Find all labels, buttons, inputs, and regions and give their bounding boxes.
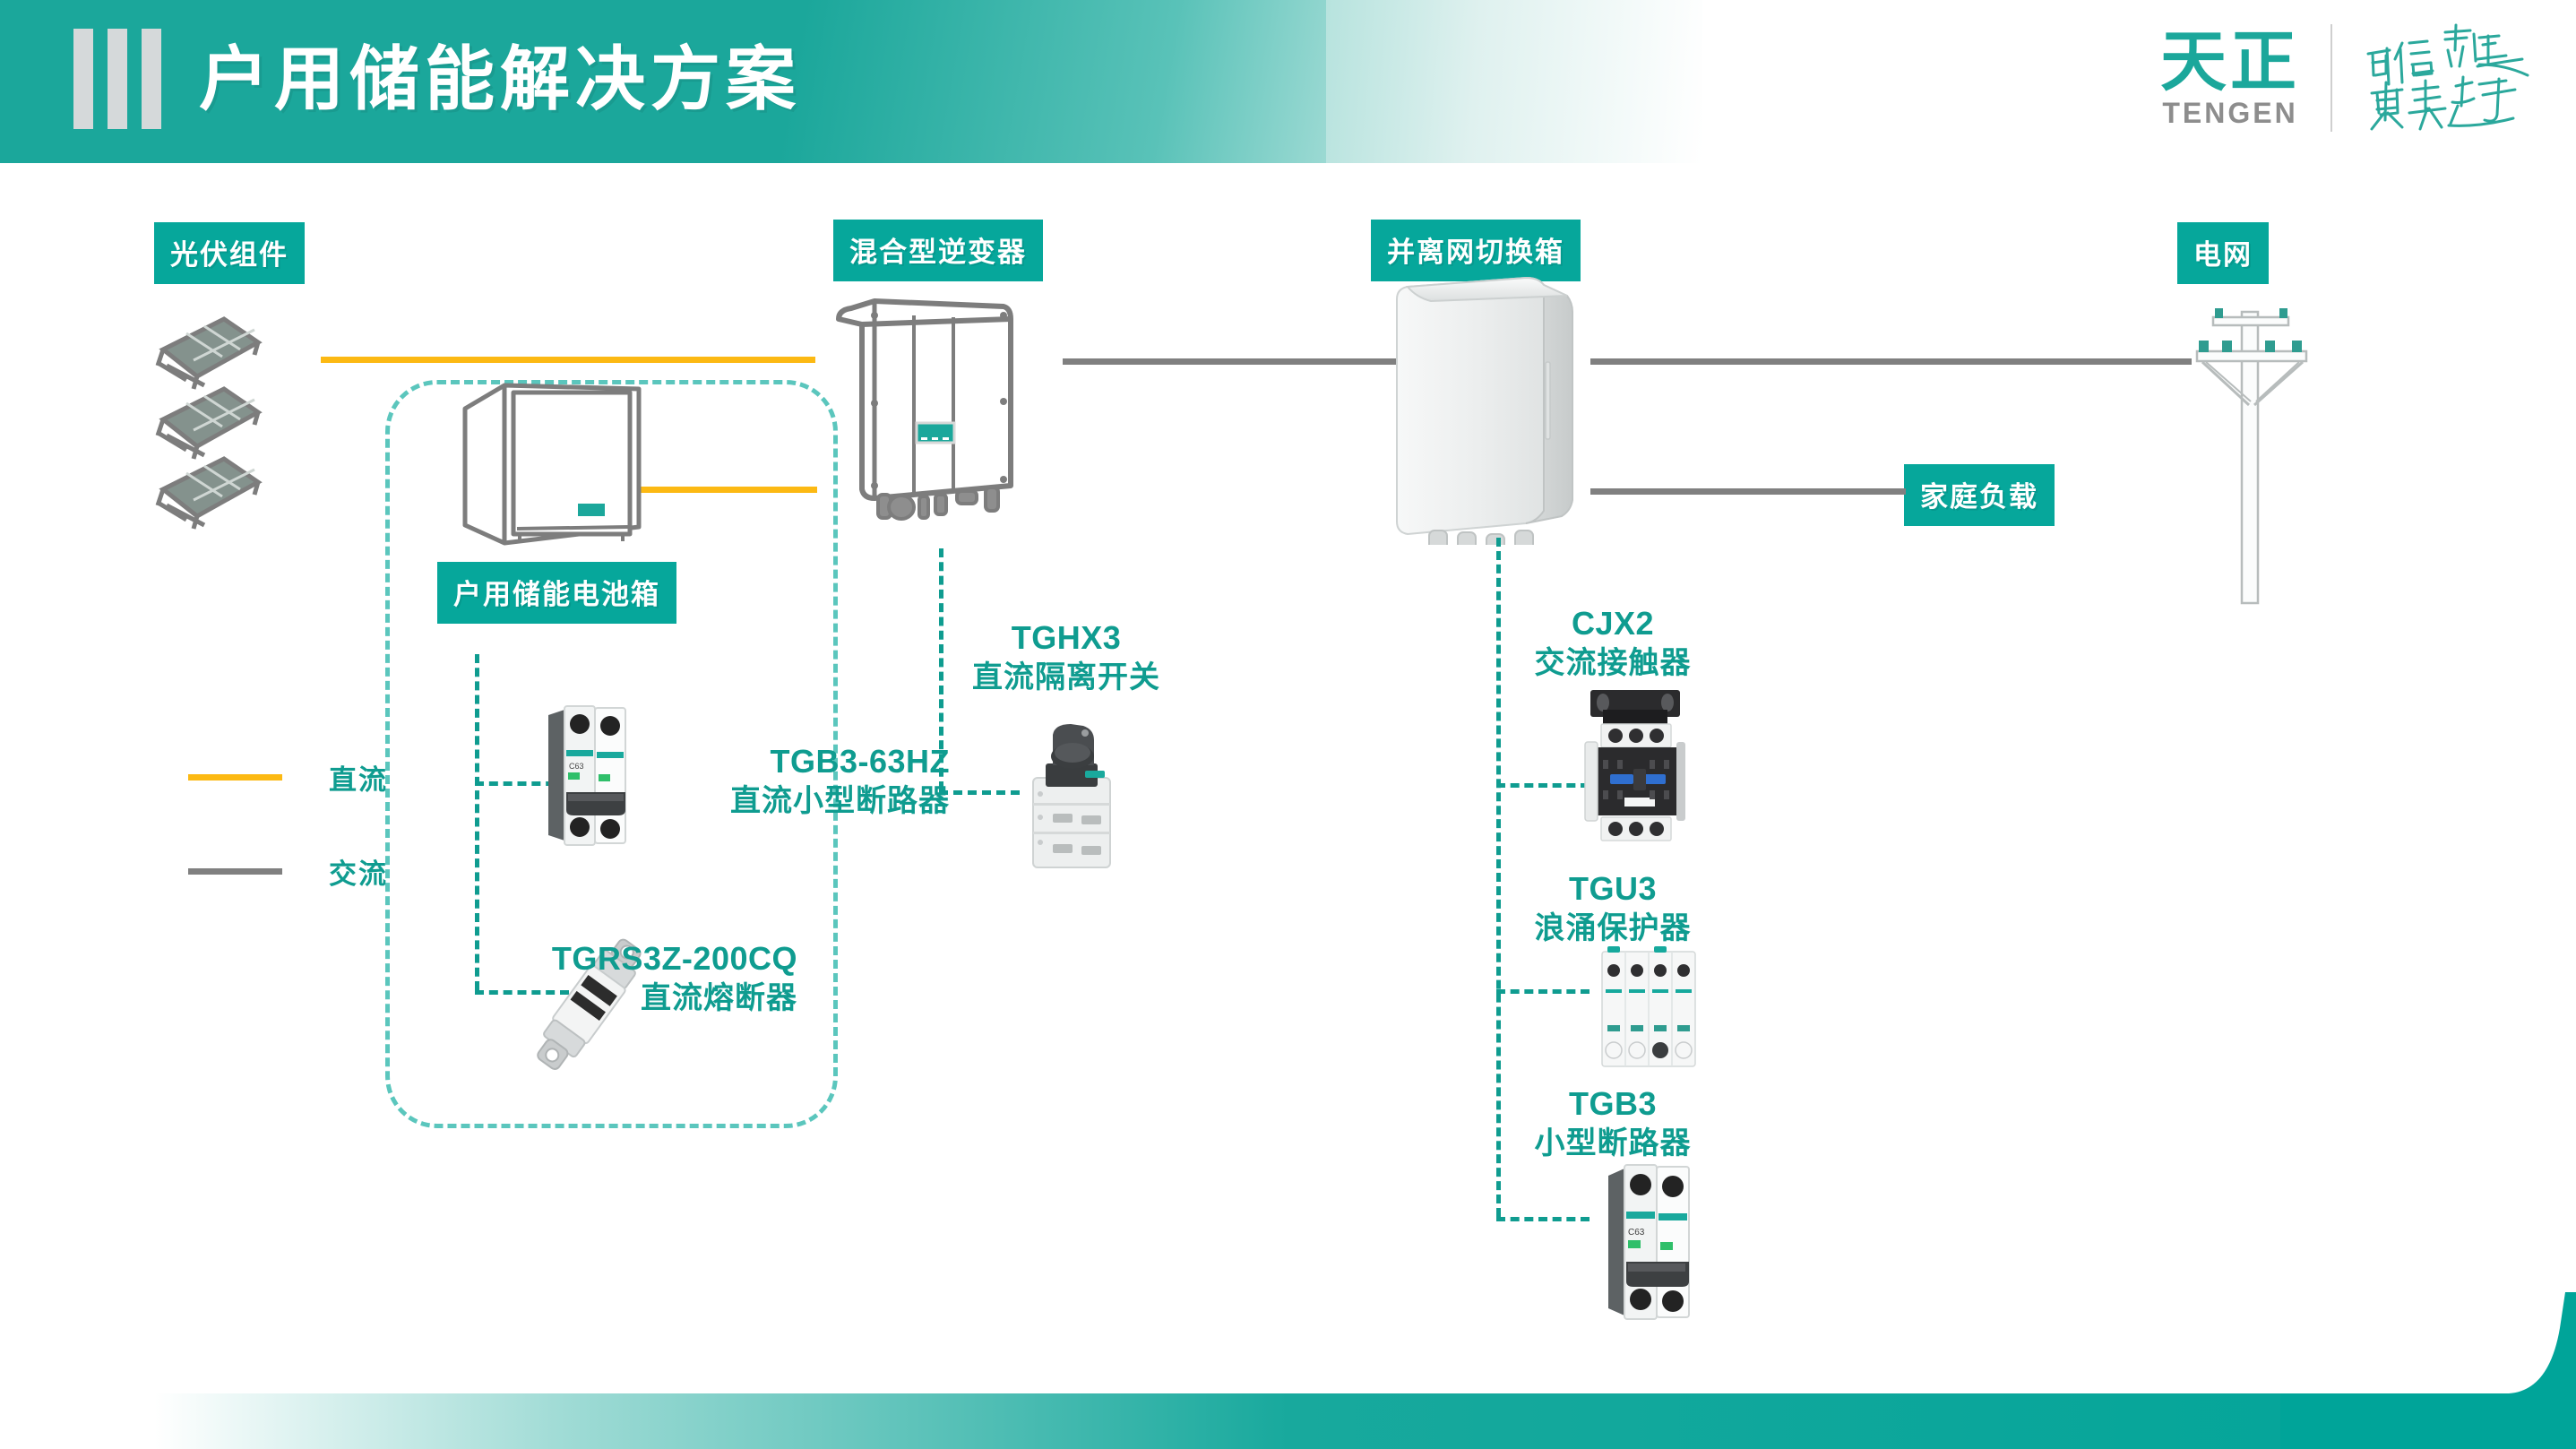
product-name: 直流熔断器 (529, 979, 797, 1018)
pv-panel-illustration (151, 296, 357, 587)
legend-swatch-dc (188, 774, 282, 781)
product-label-tgb3: TGB3 小型断路器 (1469, 1084, 1756, 1163)
section-label-pv: 光伏组件 (154, 222, 305, 284)
inverter-illustration (831, 296, 1055, 542)
product-name: 直流小型断路器 (591, 781, 950, 821)
page-header: 户用储能解决方案 (0, 0, 1523, 163)
legend-item-dc: 直流 (188, 757, 388, 798)
contactor-illustration (1564, 683, 1707, 858)
spd-illustration (1586, 941, 1711, 1080)
callout-trunk-battery (475, 654, 479, 990)
slide-canvas: 户用储能解决方案 天正 TENGEN (0, 0, 2576, 1449)
product-label-cjx2: CJX2 交流接触器 (1469, 604, 1756, 683)
header-gradient-tail (1326, 0, 1702, 163)
logo-mark: 天正 TENGEN (2160, 27, 2300, 129)
callout-branch-tgb3 (1496, 1217, 1590, 1221)
footer-corner-curve (2280, 1292, 2576, 1449)
legend-label-dc: 直流 (329, 757, 388, 798)
callout-branch-tgu3 (1496, 989, 1590, 994)
mcb-ac-illustration: C63 (1590, 1156, 1707, 1331)
product-label-tgb3-63hz: TGB3-63HZ 直流小型断路器 (591, 742, 950, 821)
utility-pole-illustration (2167, 296, 2337, 623)
page-title: 户用储能解决方案 (199, 25, 801, 133)
product-label-tgu3: TGU3 浪涌保护器 (1469, 869, 1756, 948)
svg-text:C63: C63 (569, 762, 584, 771)
product-code: TGHX3 (905, 618, 1228, 658)
logo-divider (2330, 24, 2332, 132)
switchbox-illustration (1391, 276, 1589, 549)
product-code: TGRS3Z-200CQ (529, 939, 797, 979)
product-label-tghx3: TGHX3 直流隔离开关 (905, 618, 1228, 697)
legend-swatch-ac (188, 868, 282, 875)
three-bars-icon (73, 29, 161, 129)
product-name: 直流隔离开关 (905, 658, 1228, 697)
legend-item-ac: 交流 (188, 851, 388, 892)
ac-line-switchbox-to-load (1590, 488, 1906, 495)
product-name: 交流接触器 (1469, 643, 1756, 683)
dc-line-pv-to-inverter (321, 357, 815, 363)
section-label-home-load: 家庭负载 (1904, 464, 2055, 526)
product-code: CJX2 (1469, 604, 1756, 643)
brand-name-en: TENGEN (2162, 97, 2297, 129)
brand-slogan-handwriting-icon (2363, 20, 2533, 136)
ac-line-switchbox-to-grid (1590, 358, 2192, 365)
product-code: TGB3-63HZ (591, 742, 950, 781)
isolator-switch-illustration (1008, 717, 1133, 883)
section-label-grid: 电网 (2177, 222, 2269, 284)
product-label-tgrs3z: TGRS3Z-200CQ 直流熔断器 (529, 939, 797, 1018)
ac-line-inverter-to-switchbox (1063, 358, 1396, 365)
brand-logo: 天正 TENGEN (2160, 20, 2533, 136)
page-footer-bar (0, 1393, 2576, 1449)
product-code: TGU3 (1469, 869, 1756, 909)
product-code: TGB3 (1469, 1084, 1756, 1124)
battery-cabinet-illustration (452, 376, 650, 560)
section-label-inverter: 混合型逆变器 (833, 220, 1043, 281)
brand-name-cn: 天正 (2160, 27, 2300, 97)
legend-label-ac: 交流 (329, 851, 388, 892)
svg-text:C63: C63 (1628, 1228, 1645, 1238)
legend: 直流 交流 (188, 757, 388, 945)
section-label-switchbox: 并离网切换箱 (1371, 220, 1581, 281)
